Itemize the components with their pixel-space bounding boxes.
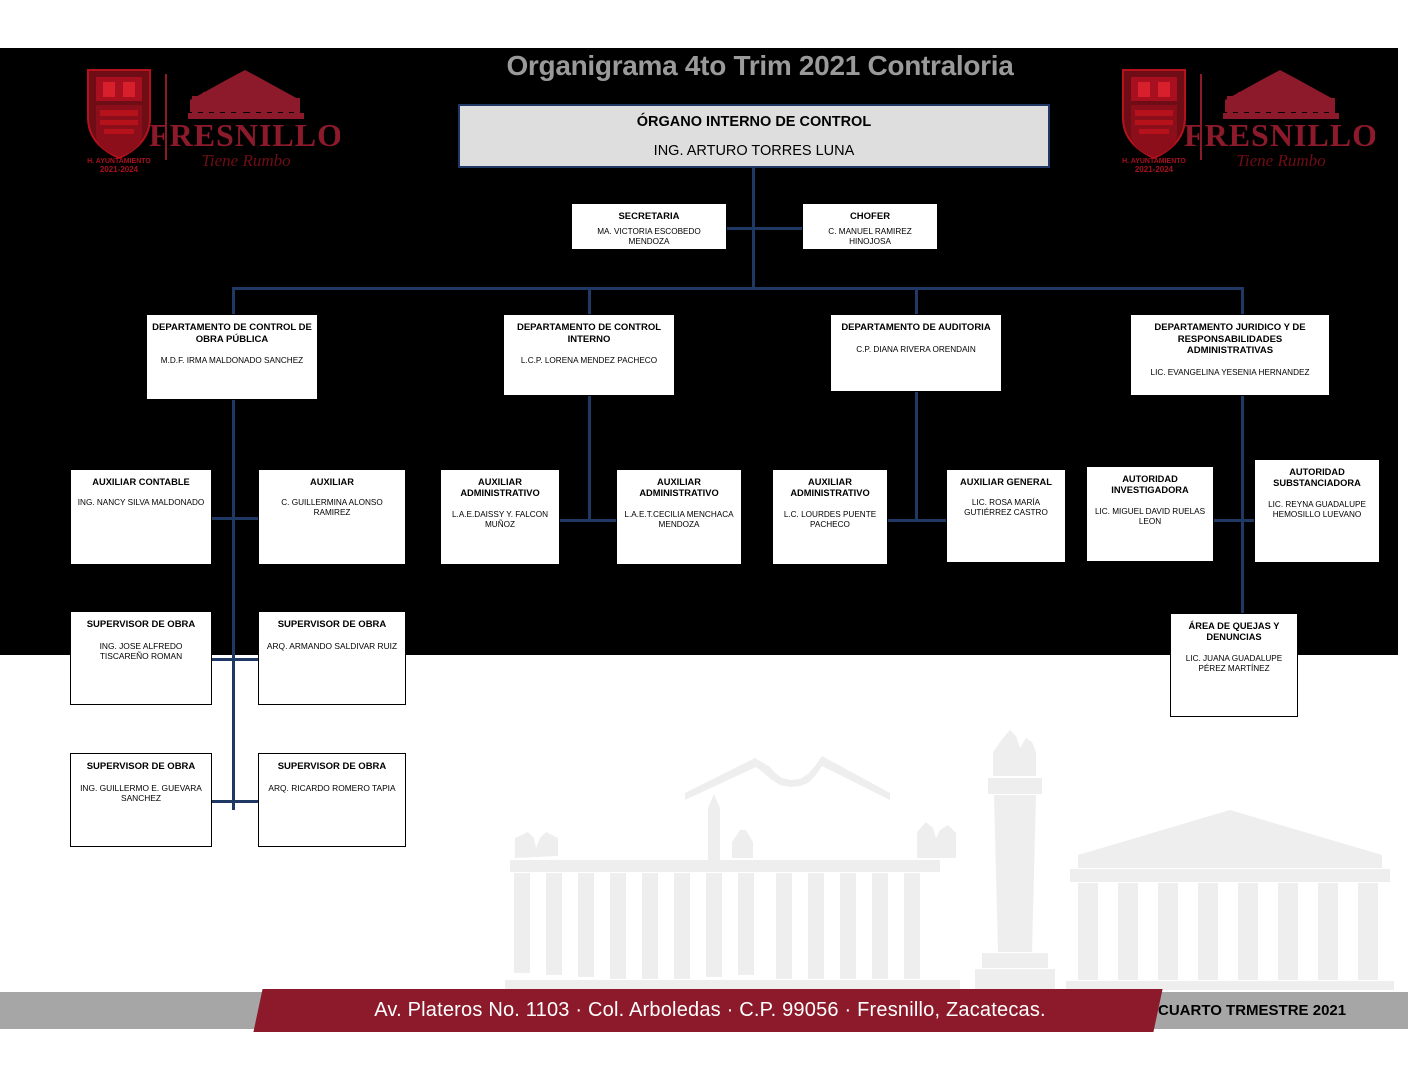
node-person: ING. GUILLERMO E. GUEVARA SANCHEZ bbox=[76, 783, 206, 804]
connector-obra-spine bbox=[232, 400, 235, 810]
svg-text:2021-2024: 2021-2024 bbox=[1135, 165, 1174, 174]
fresnillo-logo-right: H. AYUNTAMIENTO 2021-2024 FRESNILLO Tien… bbox=[1105, 60, 1375, 175]
node-person: ING. JOSE ALFREDO TISCAREÑO ROMAN bbox=[76, 641, 206, 662]
connector-secretaria-chofer bbox=[727, 227, 802, 230]
node-title: ÁREA DE QUEJAS Y DENUNCIAS bbox=[1176, 621, 1292, 644]
node-title: AUXILIAR bbox=[310, 477, 354, 488]
node-title: ÓRGANO INTERNO DE CONTROL bbox=[637, 114, 871, 132]
connector-dept-bar bbox=[232, 287, 1244, 290]
node-person: C. MANUEL RAMIREZ HINOJOSA bbox=[808, 227, 932, 247]
node-departamento-juridico[interactable]: DEPARTAMENTO JURIDICO Y DE RESPONSABILID… bbox=[1130, 314, 1330, 396]
connector-interno-spine bbox=[588, 396, 591, 521]
node-title: AUXILIAR GENERAL bbox=[960, 477, 1052, 488]
node-supervisor-obra-3[interactable]: SUPERVISOR DE OBRA ING. GUILLERMO E. GUE… bbox=[70, 753, 212, 847]
node-title: SUPERVISOR DE OBRA bbox=[87, 761, 196, 773]
connector-sup-1-2 bbox=[212, 658, 258, 661]
node-person: C. GUILLERMINA ALONSO RAMIREZ bbox=[264, 498, 400, 518]
node-person: M.D.F. IRMA MALDONADO SANCHEZ bbox=[161, 356, 303, 366]
monument-watermark bbox=[470, 690, 1400, 990]
node-title: DEPARTAMENTO DE AUDITORIA bbox=[841, 322, 990, 334]
node-autoridad-substanciadora[interactable]: AUTORIDAD SUBSTANCIADORA LIC. REYNA GUAD… bbox=[1254, 459, 1380, 563]
node-title: SUPERVISOR DE OBRA bbox=[278, 761, 387, 773]
node-title: AUTORIDAD INVESTIGADORA bbox=[1092, 474, 1208, 497]
node-secretaria[interactable]: SECRETARIA MA. VICTORIA ESCOBEDO MENDOZA bbox=[571, 203, 727, 250]
node-title: AUXILIAR ADMINISTRATIVO bbox=[622, 477, 736, 500]
node-departamento-control-interno[interactable]: DEPARTAMENTO DE CONTROL INTERNO L.C.P. L… bbox=[503, 314, 675, 396]
svg-text:Tiene Rumbo: Tiene Rumbo bbox=[201, 151, 290, 170]
connector-dept-obra-down bbox=[232, 287, 235, 315]
node-title: DEPARTAMENTO DE CONTROL DE OBRA PÚBLICA bbox=[152, 322, 312, 345]
node-auxiliar-administrativo-1[interactable]: AUXILIAR ADMINISTRATIVO L.A.E.DAISSY Y. … bbox=[440, 469, 560, 565]
connector-aux-adm3-general bbox=[888, 519, 946, 522]
node-title: DEPARTAMENTO JURIDICO Y DE RESPONSABILID… bbox=[1136, 322, 1324, 357]
node-person: LIC. MIGUEL DAVID RUELAS LEON bbox=[1092, 507, 1208, 527]
node-auxiliar[interactable]: AUXILIAR C. GUILLERMINA ALONSO RAMIREZ bbox=[258, 469, 406, 565]
node-title: SUPERVISOR DE OBRA bbox=[87, 619, 196, 631]
connector-sup-3-4 bbox=[212, 800, 258, 803]
node-person: L.C. LOURDES PUENTE PACHECO bbox=[778, 510, 882, 530]
node-auxiliar-administrativo-3[interactable]: AUXILIAR ADMINISTRATIVO L.C. LOURDES PUE… bbox=[772, 469, 888, 565]
node-chofer[interactable]: CHOFER C. MANUEL RAMIREZ HINOJOSA bbox=[802, 203, 938, 250]
node-auxiliar-general[interactable]: AUXILIAR GENERAL LIC. ROSA MARÍA GUTIÉRR… bbox=[946, 469, 1066, 563]
node-person: MA. VICTORIA ESCOBEDO MENDOZA bbox=[577, 227, 721, 247]
node-title: SECRETARIA bbox=[618, 211, 679, 223]
node-person: L.A.E.DAISSY Y. FALCON MUÑOZ bbox=[446, 510, 554, 530]
svg-text:2021-2024: 2021-2024 bbox=[100, 165, 139, 174]
fresnillo-logo-left: H. AYUNTAMIENTO 2021-2024 FRESNILLO Tien… bbox=[70, 60, 340, 175]
connector-dept-juridico-down bbox=[1241, 287, 1244, 315]
connector-aux-adm-12 bbox=[560, 519, 616, 522]
node-person: ARQ. RICARDO ROMERO TAPIA bbox=[268, 783, 395, 793]
node-person: ING. NANCY SILVA MALDONADO bbox=[78, 498, 204, 508]
node-auxiliar-administrativo-2[interactable]: AUXILIAR ADMINISTRATIVO L.A.E.T.CECILIA … bbox=[616, 469, 742, 565]
svg-text:FRESNILLO: FRESNILLO bbox=[1184, 117, 1375, 153]
page-title: Organigrama 4to Trim 2021 Contraloria bbox=[440, 50, 1080, 82]
node-title: CHOFER bbox=[850, 211, 890, 223]
connector-aux-contable bbox=[212, 517, 258, 520]
svg-text:Tiene Rumbo: Tiene Rumbo bbox=[1236, 151, 1325, 170]
node-person: ARQ. ARMANDO SALDIVAR RUIZ bbox=[267, 641, 397, 651]
node-person: L.C.P. LORENA MENDEZ PACHECO bbox=[521, 356, 657, 366]
node-supervisor-obra-1[interactable]: SUPERVISOR DE OBRA ING. JOSE ALFREDO TIS… bbox=[70, 611, 212, 705]
node-person: LIC. ROSA MARÍA GUTIÉRREZ CASTRO bbox=[952, 498, 1060, 518]
node-supervisor-obra-4[interactable]: SUPERVISOR DE OBRA ARQ. RICARDO ROMERO T… bbox=[258, 753, 406, 847]
node-person: C.P. DIANA RIVERA ORENDAIN bbox=[856, 345, 976, 355]
node-person: LIC. JUANA GUADALUPE PÉREZ MARTÍNEZ bbox=[1176, 654, 1292, 674]
node-supervisor-obra-2[interactable]: SUPERVISOR DE OBRA ARQ. ARMANDO SALDIVAR… bbox=[258, 611, 406, 705]
node-title: AUTORIDAD SUBSTANCIADORA bbox=[1260, 467, 1374, 490]
node-area-quejas-denuncias[interactable]: ÁREA DE QUEJAS Y DENUNCIAS LIC. JUANA GU… bbox=[1170, 613, 1298, 717]
node-autoridad-investigadora[interactable]: AUTORIDAD INVESTIGADORA LIC. MIGUEL DAVI… bbox=[1086, 466, 1214, 562]
node-departamento-control-obra-publica[interactable]: DEPARTAMENTO DE CONTROL DE OBRA PÚBLICA … bbox=[146, 314, 318, 400]
node-person: LIC. EVANGELINA YESENIA HERNANDEZ bbox=[1151, 368, 1310, 378]
connector-dept-auditoria-down bbox=[915, 287, 918, 315]
node-departamento-auditoria[interactable]: DEPARTAMENTO DE AUDITORIA C.P. DIANA RIV… bbox=[830, 314, 1002, 392]
node-person: ING. ARTURO TORRES LUNA bbox=[654, 143, 855, 161]
footer-address: Av. Plateros No. 1103 · Col. Arboledas ·… bbox=[270, 989, 1150, 1032]
footer-quarter-label: CUARTO TRMESTRE 2021 bbox=[1158, 989, 1398, 1032]
node-auxiliar-contable[interactable]: AUXILIAR CONTABLE ING. NANCY SILVA MALDO… bbox=[70, 469, 212, 565]
node-person: LIC. REYNA GUADALUPE HEMOSILLO LUEVANO bbox=[1260, 500, 1374, 520]
node-title: AUXILIAR ADMINISTRATIVO bbox=[778, 477, 882, 500]
node-title: AUXILIAR ADMINISTRATIVO bbox=[446, 477, 554, 500]
connector-juridico-spine bbox=[1241, 396, 1244, 621]
node-title: DEPARTAMENTO DE CONTROL INTERNO bbox=[509, 322, 669, 345]
connector-auditoria-spine bbox=[915, 392, 918, 521]
organigrama-page: Organigrama 4to Trim 2021 Contraloria H.… bbox=[0, 0, 1408, 1088]
svg-text:FRESNILLO: FRESNILLO bbox=[149, 117, 340, 153]
node-title: AUXILIAR CONTABLE bbox=[92, 477, 189, 488]
svg-text:H. AYUNTAMIENTO: H. AYUNTAMIENTO bbox=[87, 158, 151, 165]
node-title: SUPERVISOR DE OBRA bbox=[278, 619, 387, 631]
connector-dept-interno-down bbox=[588, 287, 591, 315]
svg-text:H. AYUNTAMIENTO: H. AYUNTAMIENTO bbox=[1122, 158, 1186, 165]
node-person: L.A.E.T.CECILIA MENCHACA MENDOZA bbox=[622, 510, 736, 530]
node-organo-interno-de-control[interactable]: ÓRGANO INTERNO DE CONTROL ING. ARTURO TO… bbox=[458, 104, 1050, 168]
